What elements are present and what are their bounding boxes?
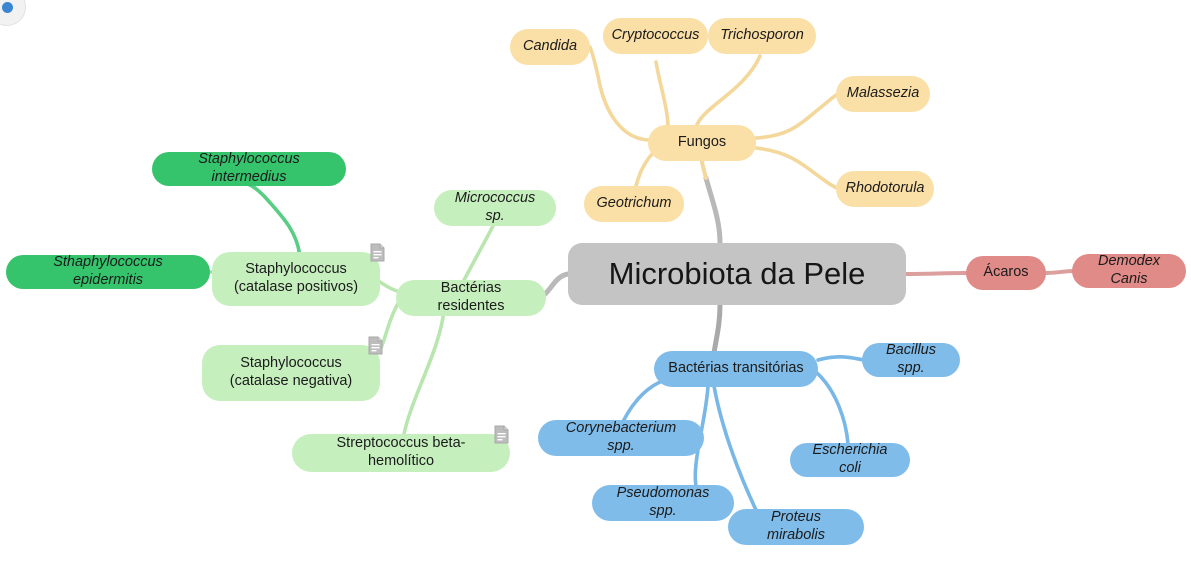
leaf-node-bacillus-spp[interactable]: Bacillus spp.: [862, 343, 960, 377]
pointer-dot-icon: [2, 2, 13, 13]
leaf-label-geotrichum: Geotrichum: [597, 195, 672, 213]
cursor-pointer-indicator: [0, 0, 26, 26]
leaf-node-rhodotorula[interactable]: Rhodotorula: [836, 171, 934, 207]
leaf-label-bacillus-spp: Bacillus spp.: [876, 342, 946, 377]
leaf-label-pseudomonas-spp: Pseudomonas spp.: [606, 485, 720, 520]
leaf-node-micrococcus-sp[interactable]: Micrococcus sp.: [434, 190, 556, 226]
leaf-label-malassezia: Malassezia: [847, 85, 920, 103]
leaf-label-escherichia-coli: Escherichia coli: [804, 442, 896, 477]
leaf-node-escherichia-coli[interactable]: Escherichia coli: [790, 443, 910, 477]
leaf-node-corynebacterium-spp[interactable]: Corynebacterium spp.: [538, 420, 704, 456]
node-staphylococcus-catalase-positivos[interactable]: Staphylococcus (catalase positivos): [212, 252, 380, 306]
leaf-node-pseudomonas-spp[interactable]: Pseudomonas spp.: [592, 485, 734, 521]
leaf-label-rhodotorula: Rhodotorula: [846, 180, 925, 198]
node-label-staphylococcus-catalase-positivos: Staphylococcus (catalase positivos): [226, 261, 366, 296]
node-label-streptococcus-beta-hemolitico: Streptococcus beta-hemolítico: [306, 435, 496, 470]
note-icon[interactable]: [368, 336, 383, 355]
branch-node-bacterias-residentes[interactable]: Bactérias residentes: [396, 280, 546, 316]
branch-node-acaros[interactable]: Ácaros: [966, 256, 1046, 290]
branch-label-bacterias-residentes: Bactérias residentes: [410, 280, 532, 315]
leaf-node-geotrichum[interactable]: Geotrichum: [584, 186, 684, 222]
leaf-node-staphylococcus-intermedius[interactable]: Staphylococcus intermedius: [152, 152, 346, 186]
leaf-node-candida[interactable]: Candida: [510, 29, 590, 65]
leaf-node-cryptococcus[interactable]: Cryptococcus: [603, 18, 708, 54]
branch-node-bacterias-transitorias[interactable]: Bactérias transitórias: [654, 351, 818, 387]
leaf-label-cryptococcus: Cryptococcus: [612, 27, 700, 45]
root-node[interactable]: Microbiota da Pele: [568, 243, 906, 305]
leaf-label-micrococcus-sp: Micrococcus sp.: [448, 190, 542, 225]
leaf-node-malassezia[interactable]: Malassezia: [836, 76, 930, 112]
leaf-node-proteus-mirabolis[interactable]: Proteus mirabolis: [728, 509, 864, 545]
root-label: Microbiota da Pele: [609, 255, 866, 293]
mindmap-canvas[interactable]: Microbiota da Pele Fungos Candida Crypto…: [0, 0, 1191, 576]
leaf-node-trichosporon[interactable]: Trichosporon: [708, 18, 816, 54]
note-icon[interactable]: [370, 243, 385, 262]
leaf-node-demodex-canis[interactable]: Demodex Canis: [1072, 254, 1186, 288]
branch-node-fungos[interactable]: Fungos: [648, 125, 756, 161]
leaf-label-corynebacterium-spp: Corynebacterium spp.: [552, 420, 690, 455]
leaf-label-candida: Candida: [523, 38, 577, 56]
branch-label-acaros: Ácaros: [983, 264, 1028, 282]
leaf-label-trichosporon: Trichosporon: [720, 27, 804, 45]
note-icon[interactable]: [494, 425, 509, 444]
leaf-label-demodex-canis: Demodex Canis: [1086, 253, 1172, 288]
branch-label-bacterias-transitorias: Bactérias transitórias: [668, 360, 803, 378]
leaf-label-sthaphylococcus-epidermitis: Sthaphylococcus epidermitis: [20, 254, 196, 289]
leaf-node-sthaphylococcus-epidermitis[interactable]: Sthaphylococcus epidermitis: [6, 255, 210, 289]
node-staphylococcus-catalase-negativa[interactable]: Staphylococcus (catalase negativa): [202, 345, 380, 401]
branch-label-fungos: Fungos: [678, 134, 726, 152]
node-streptococcus-beta-hemolitico[interactable]: Streptococcus beta-hemolítico: [292, 434, 510, 472]
node-label-staphylococcus-catalase-negativa: Staphylococcus (catalase negativa): [216, 355, 366, 390]
leaf-label-proteus-mirabolis: Proteus mirabolis: [742, 509, 850, 544]
leaf-label-staphylococcus-intermedius: Staphylococcus intermedius: [166, 151, 332, 186]
